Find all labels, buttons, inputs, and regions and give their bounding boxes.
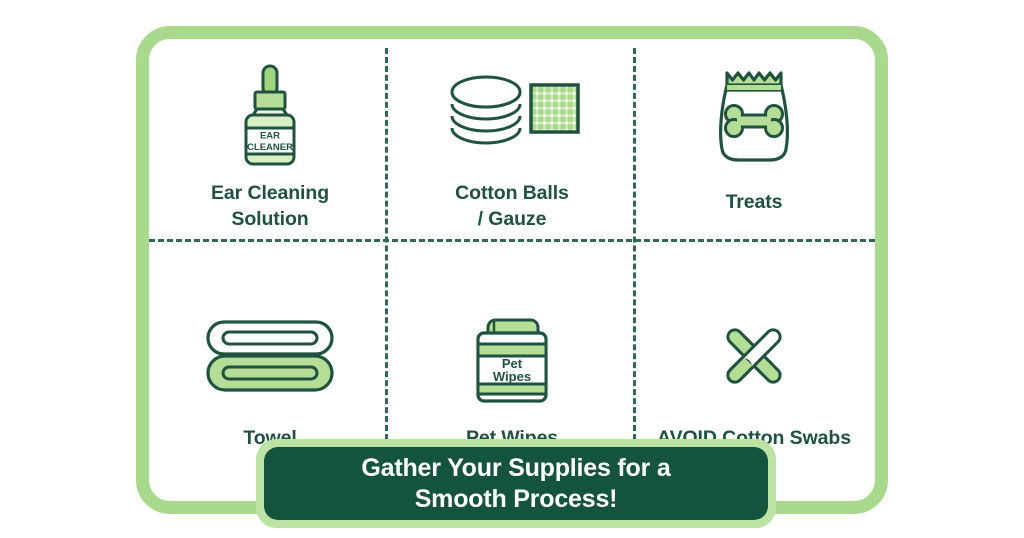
cta-banner[interactable]: Gather Your Supplies for a Smooth Proces…	[264, 447, 768, 520]
grid-divider-vertical-left	[385, 48, 388, 440]
crossed-cotton-swabs-icon	[704, 308, 804, 404]
wipes-label-line2: Wipes	[493, 369, 531, 384]
pet-wipes-container-icon: Pet Wipes	[464, 308, 560, 404]
cta-banner-text: Gather Your Supplies for a Smooth Proces…	[361, 453, 670, 515]
supply-label-treats: Treats	[726, 190, 783, 216]
supply-cell-cotton-balls-gauze[interactable]: Cotton Balls / Gauze	[391, 39, 633, 270]
supply-cell-ear-cleaning-solution[interactable]: EAR CLEANER Ear Cleaning Solution	[149, 39, 391, 270]
cotton-balls-and-gauze-icon	[442, 61, 582, 169]
folded-towels-icon	[204, 308, 336, 404]
bottle-label-line2: CLEANER	[247, 142, 293, 153]
treat-bag-icon	[708, 61, 800, 169]
supplies-grid: EAR CLEANER Ear Cleaning Solution	[149, 39, 875, 501]
supply-label-ear-cleaning-solution: Ear Cleaning Solution	[211, 181, 329, 233]
supply-label-cotton-balls-gauze: Cotton Balls / Gauze	[455, 181, 569, 233]
bottle-label-line1: EAR	[260, 131, 280, 142]
supply-cell-treats[interactable]: Treats	[633, 39, 875, 270]
grid-divider-horizontal	[149, 239, 875, 242]
supplies-infographic: EAR CLEANER Ear Cleaning Solution	[0, 0, 1024, 538]
grid-divider-vertical-right	[633, 48, 636, 440]
ear-cleaner-bottle-icon: EAR CLEANER	[224, 61, 316, 169]
banner-outline: Gather Your Supplies for a Smooth Proces…	[256, 439, 776, 528]
